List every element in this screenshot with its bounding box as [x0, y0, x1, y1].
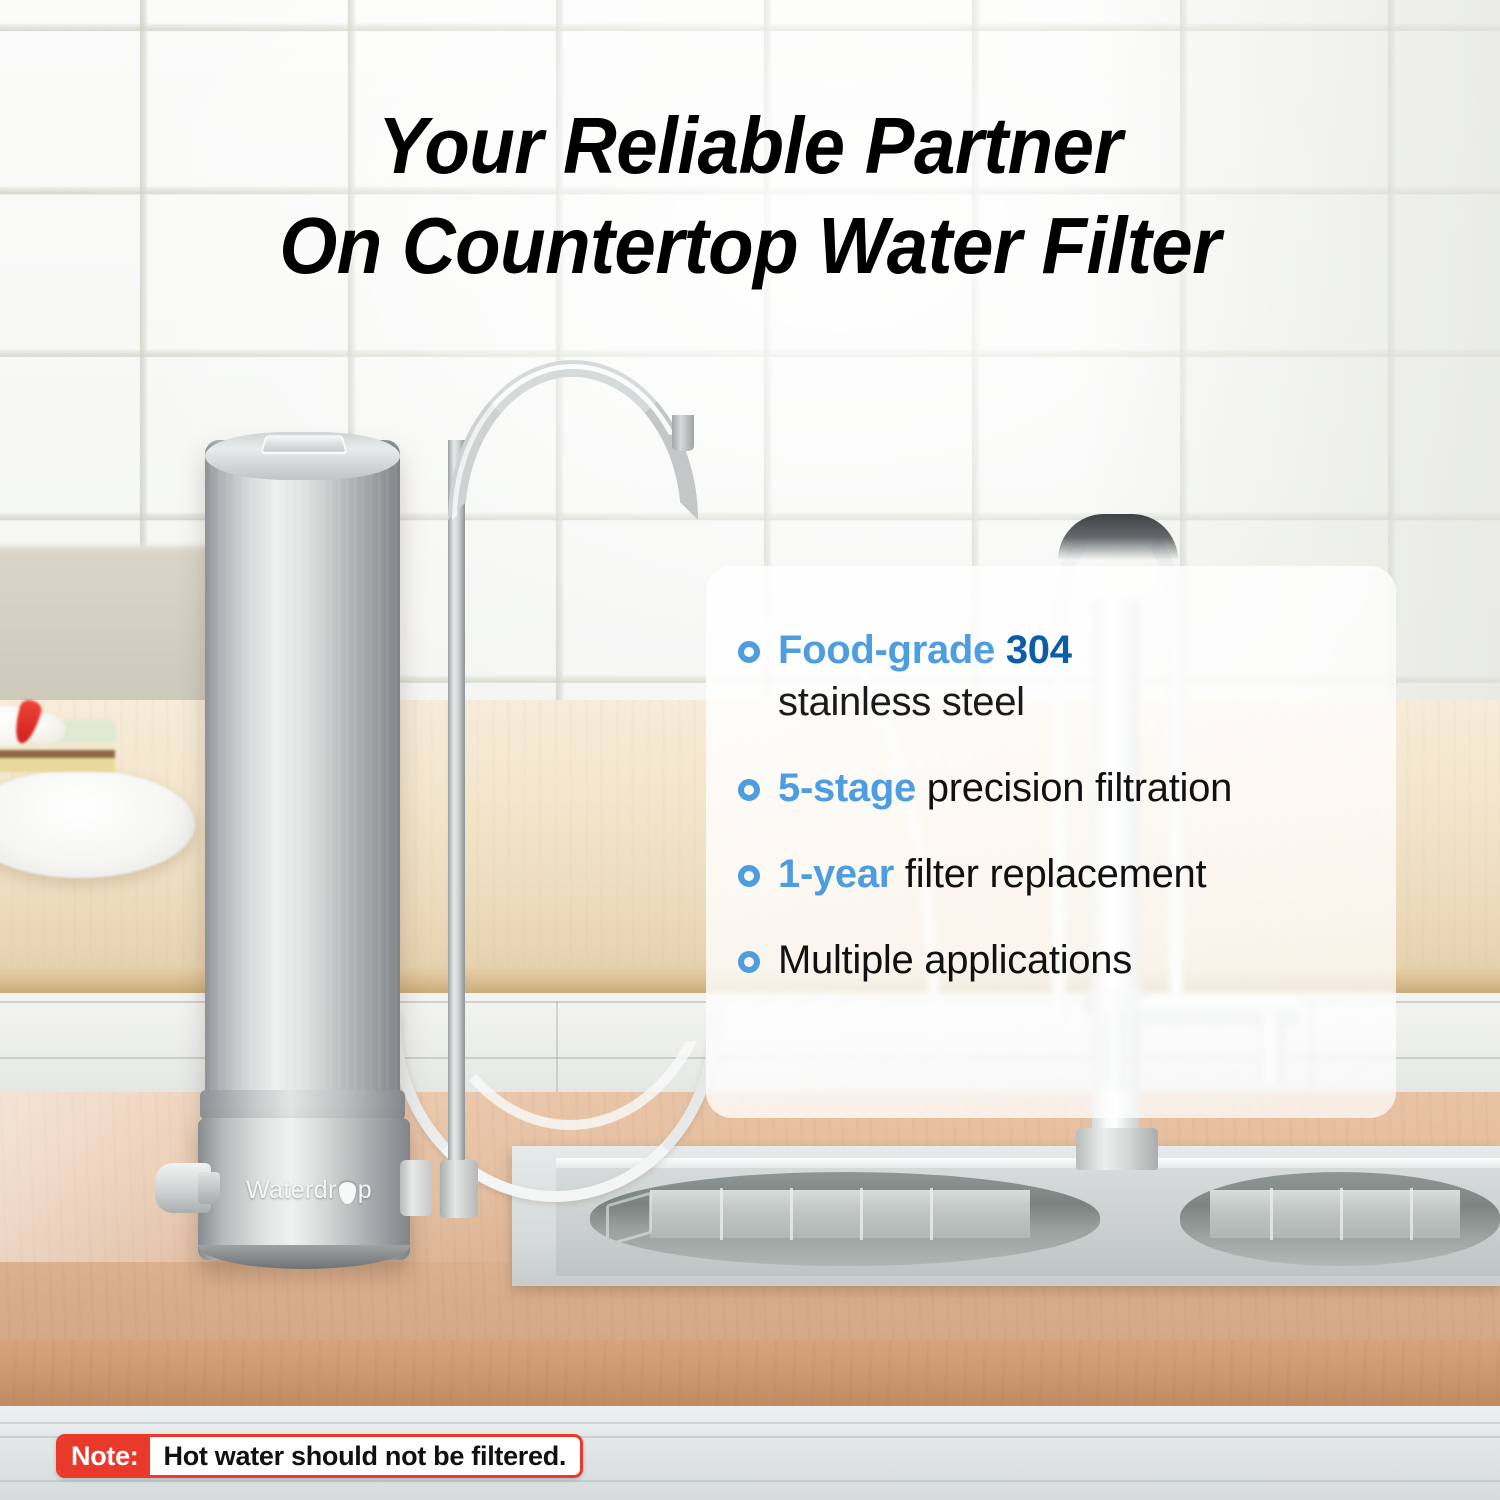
water-filter-housing-sheen: [205, 440, 400, 1130]
ring-bullet-icon: [738, 865, 760, 887]
filter-spout-riser: [448, 440, 465, 1200]
cake-layer-sponge: [0, 756, 115, 772]
main-faucet-base: [1076, 1128, 1158, 1170]
front-countertop-edge-grain: [0, 1340, 1500, 1408]
cake-slice: [0, 712, 115, 798]
waterdrop-logo: Waterdr p: [246, 1176, 372, 1205]
sink-basin-left: [590, 1172, 1100, 1266]
ring-bullet-icon: [738, 951, 760, 973]
note-badge: Note: Hot water should not be filtered.: [56, 1434, 583, 1478]
sink-basin-right: [1180, 1172, 1500, 1266]
brand-name-suffix: p: [358, 1176, 372, 1205]
water-drop-icon: [339, 1182, 356, 1204]
page-title: Your Reliable Partner On Countertop Wate…: [53, 96, 1448, 296]
water-filter-top-port: [260, 435, 347, 454]
headline-line-2: On Countertop Water Filter: [53, 196, 1448, 296]
filter-spout-foot: [440, 1160, 478, 1218]
product-infographic: Waterdr p Your Reliable Partner On Count…: [0, 0, 1500, 1500]
feature-text-2: 1-year filter replacement: [778, 848, 1206, 900]
feature-highlight-2: 1-year: [778, 852, 894, 896]
ring-bullet-icon: [738, 779, 760, 801]
list-item: Food-grade 304 stainless steel: [738, 624, 1378, 728]
feature-rest-3: Multiple applications: [778, 938, 1132, 982]
water-filter-left-valve-stem: [198, 1172, 220, 1204]
filter-spout-tip: [672, 415, 694, 451]
sink-rim-highlight: [556, 1158, 1500, 1168]
feature-text-3: Multiple applications: [778, 934, 1132, 986]
sink-drain-basket-icon: [606, 1191, 652, 1246]
feature-list: Food-grade 304 stainless steel 5-stage p…: [706, 566, 1396, 1118]
feature-text-0: Food-grade 304 stainless steel: [778, 624, 1072, 728]
water-filter-right-fitting: [400, 1160, 432, 1216]
list-item: 1-year filter replacement: [738, 848, 1378, 900]
water-filter-collar: [200, 1090, 405, 1120]
feature-highlight2-0: 304: [1006, 628, 1072, 672]
brand-name-text: Waterdr: [246, 1176, 337, 1205]
feature-highlight-0: Food-grade: [778, 628, 995, 672]
feature-text-1: 5-stage precision filtration: [778, 762, 1232, 814]
feature-subline-0: stainless steel: [778, 676, 1072, 728]
feature-rest-2: filter replacement: [894, 852, 1206, 896]
feature-highlight-1: 5-stage: [778, 766, 916, 810]
note-label: Note:: [59, 1437, 150, 1475]
list-item: Multiple applications: [738, 934, 1378, 986]
feature-rest-1: precision filtration: [916, 766, 1232, 810]
list-item: 5-stage precision filtration: [738, 762, 1378, 814]
headline-line-1: Your Reliable Partner: [378, 101, 1122, 190]
ring-bullet-icon: [738, 641, 760, 663]
note-message: Hot water should not be filtered.: [150, 1437, 581, 1475]
